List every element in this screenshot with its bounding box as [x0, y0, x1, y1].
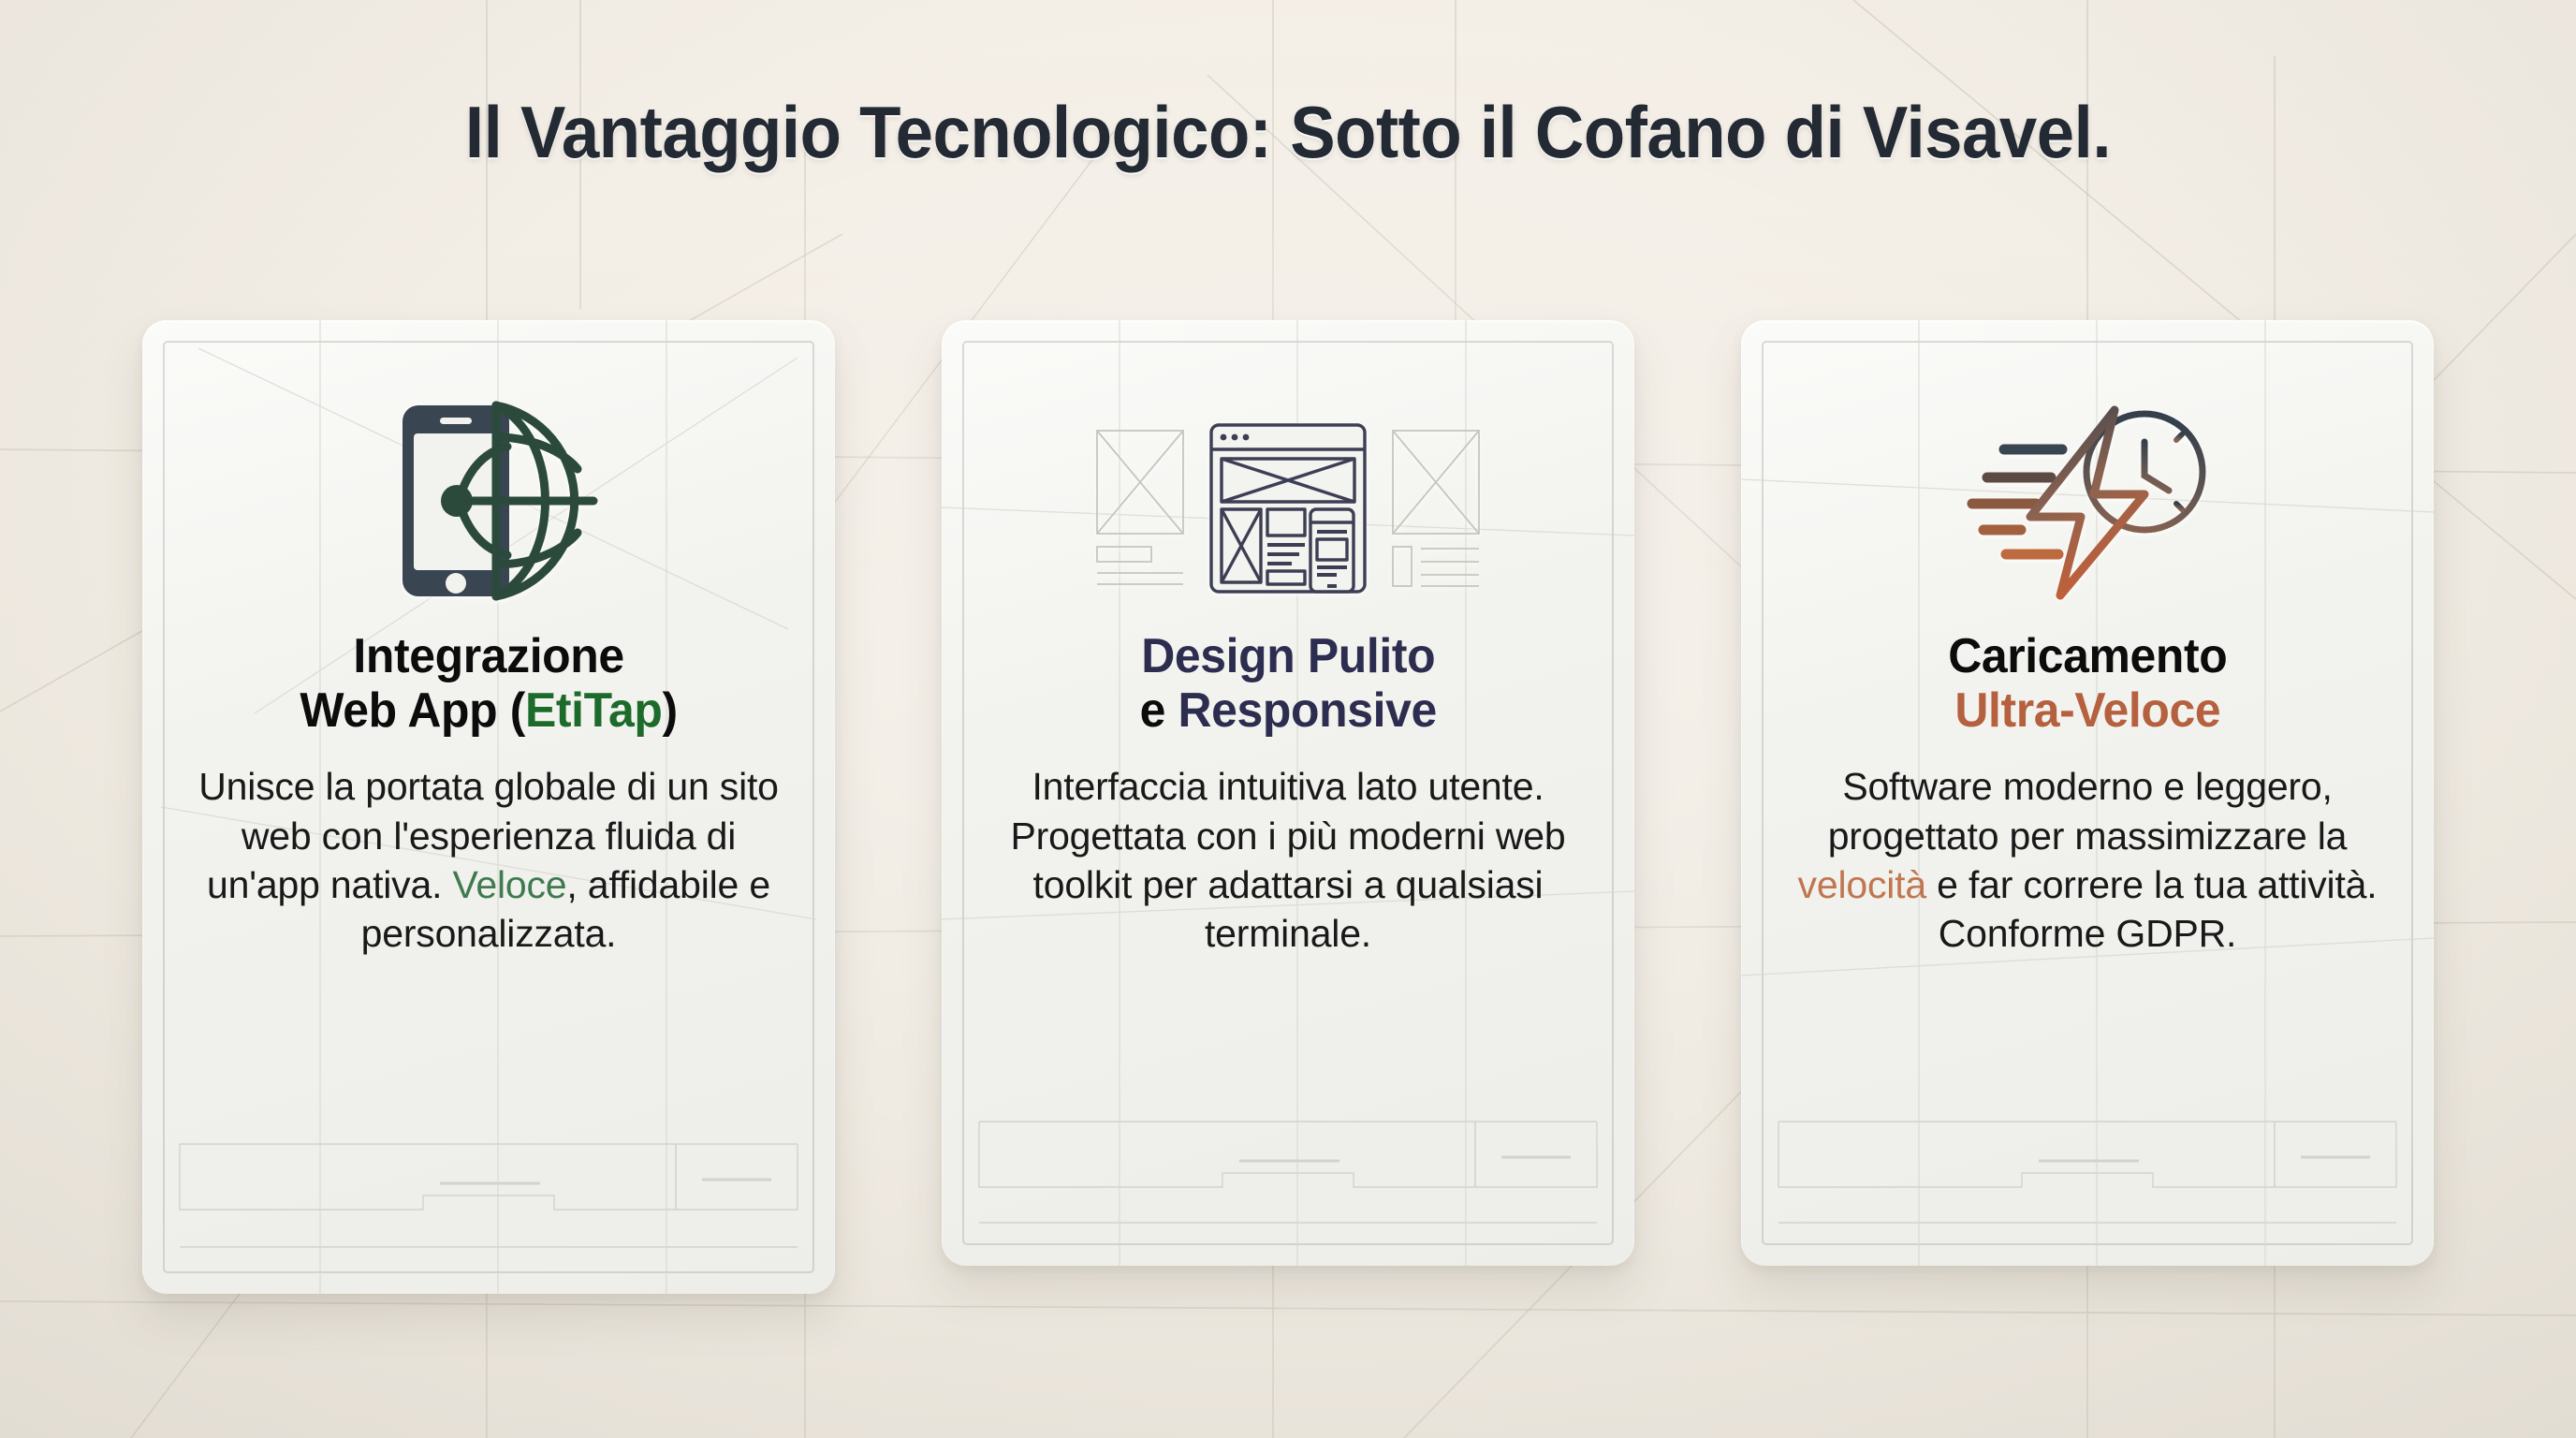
card-title-post: ) — [662, 683, 677, 738]
card-title-accent: Ultra-Veloce — [1954, 683, 2220, 738]
feature-card-integrazione-web-app[interactable]: Integrazione Web App (EtiTap) Unisce la … — [142, 320, 835, 1294]
card-description: Unisce la portata globale di un sito web… — [193, 762, 784, 957]
desc-accent: velocità — [1798, 863, 1926, 906]
desc-accent: Veloce — [452, 863, 566, 906]
card-title-pre: Web App ( — [300, 683, 525, 738]
feature-card-row: Integrazione Web App (EtiTap) Unisce la … — [142, 320, 2434, 1313]
card-title-line2: e Responsive — [1139, 683, 1436, 738]
card-title: Integrazione Web App (EtiTap) — [300, 629, 677, 738]
lightning-clock-icon — [1961, 378, 2214, 622]
card-title-accent: Responsive — [1178, 683, 1436, 738]
card-title-line2: Ultra-Veloce — [1948, 683, 2227, 738]
desc-part1: Software moderno e leggero, progettato p… — [1828, 765, 2348, 857]
card-description: Software moderno e leggero, progettato p… — [1792, 762, 2383, 957]
phone-globe-icon — [376, 378, 601, 622]
card-title-line1: Design Pulito — [1139, 629, 1436, 683]
desc-part1: Interfaccia intuitiva lato utente. Proge… — [1010, 765, 1565, 954]
card-description: Interfaccia intuitiva lato utente. Proge… — [992, 762, 1584, 957]
slide-canvas: Il Vantaggio Tecnologico: Sotto il Cofan… — [0, 0, 2576, 1438]
card-title-pre: e — [1139, 683, 1178, 738]
card-title-line1: Integrazione — [300, 629, 677, 683]
wireframe-browser-icon — [1091, 378, 1485, 622]
feature-card-caricamento-ultra-veloce[interactable]: Caricamento Ultra-Veloce Software modern… — [1741, 320, 2434, 1266]
card-title: Design Pulito e Responsive — [1139, 629, 1436, 738]
desc-part2: e far correre la tua attività. Conforme … — [1926, 863, 2377, 955]
feature-card-design-pulito-responsive[interactable]: Design Pulito e Responsive Interfaccia i… — [942, 320, 1634, 1266]
card-title: Caricamento Ultra-Veloce — [1948, 629, 2227, 738]
card-title-line2: Web App (EtiTap) — [300, 683, 677, 738]
page-title: Il Vantaggio Tecnologico: Sotto il Cofan… — [90, 90, 2485, 175]
card-title-accent: EtiTap — [525, 683, 663, 738]
card-title-line1: Caricamento — [1948, 629, 2227, 683]
